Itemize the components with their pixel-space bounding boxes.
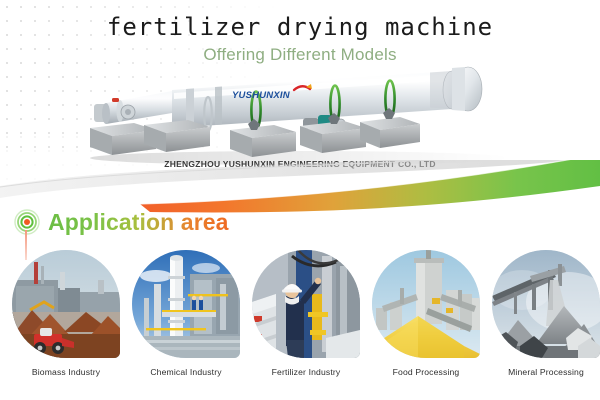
company-name: ZHENGZHOU YUSHUNXIN ENGINEERING EQUIPMEN… — [0, 159, 600, 169]
drum-feed-section — [94, 90, 178, 124]
application-card-mineral[interactable]: Mineral Processing — [492, 250, 600, 377]
application-card-chemical[interactable]: Chemical Industry — [132, 250, 240, 377]
application-card-food[interactable]: Food Processing — [372, 250, 480, 377]
rotary-drum-dryer-illustration: YUSHUNXIN — [60, 62, 520, 167]
application-card-fertilizer[interactable]: Fertilizer Industry — [252, 250, 360, 377]
fertilizer-worker-photo — [252, 250, 360, 358]
target-ring-icon — [14, 209, 40, 235]
biomass-yard-photo — [12, 250, 120, 358]
application-label: Chemical Industry — [132, 367, 240, 377]
application-card-biomass[interactable]: Biomass Industry — [12, 250, 120, 377]
chemical-plant-photo — [132, 250, 240, 358]
quarry-conveyor-photo — [492, 250, 600, 358]
page-title: fertilizer drying machine — [0, 13, 600, 41]
svg-text:YUSHUNXIN: YUSHUNXIN — [232, 90, 291, 101]
application-label: Food Processing — [372, 367, 480, 377]
application-label: Biomass Industry — [12, 367, 120, 377]
application-area-title: Application area — [48, 209, 229, 236]
application-label: Mineral Processing — [492, 367, 600, 377]
application-label: Fertilizer Industry — [252, 367, 360, 377]
application-area-heading: Application area — [14, 205, 229, 239]
poster-page: fertilizer drying machine Offering Diffe… — [0, 0, 600, 400]
application-cards: Biomass Industry — [0, 250, 600, 380]
grain-silo-photo — [372, 250, 480, 358]
